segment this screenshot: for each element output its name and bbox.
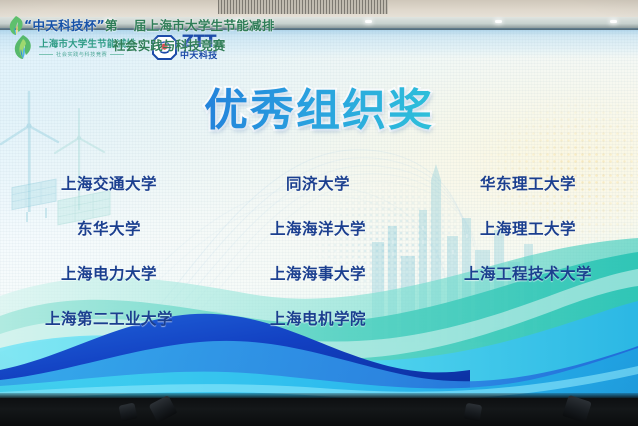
- ztt-logo-cn: 中天科技: [180, 52, 218, 61]
- university-name: 上海理工大学: [418, 205, 638, 250]
- university-name: 上海交通大学: [0, 160, 218, 205]
- ztt-logo: ZTT 中天科技: [152, 34, 218, 61]
- eco-logo-title: 上海市大学生节能减排: [39, 36, 136, 50]
- ztt-logo-en: ZTT: [182, 34, 216, 51]
- ceiling-downlight: [610, 20, 617, 23]
- university-name: 同济大学: [218, 160, 418, 205]
- ceiling-downlight: [235, 20, 242, 23]
- award-title: 优秀组织奖: [0, 74, 638, 138]
- stage-light: [119, 403, 138, 422]
- university-name: 上海第二工业大学: [0, 295, 218, 340]
- stage-floor: [0, 398, 638, 426]
- university-name: 东华大学: [0, 205, 218, 250]
- eco-logo-subtitle: 社会实践与科技竞赛: [39, 51, 136, 58]
- university-name: 上海电力大学: [0, 250, 218, 295]
- ceiling-downlight: [495, 20, 502, 23]
- stage-light: [464, 403, 483, 422]
- leaf-flame-logo-icon: [12, 34, 34, 60]
- ceiling-air-vent: [218, 0, 388, 14]
- university-name: 上海电机学院: [218, 295, 418, 340]
- university-list: 上海交通大学 同济大学 华东理工大学 东华大学 上海海洋大学 上海理工大学 上海…: [0, 160, 638, 340]
- rule-left: [39, 54, 53, 55]
- ceiling-downlight: [105, 20, 112, 23]
- eco-contest-logo: 上海市大学生节能减排 社会实践与科技竞赛: [12, 34, 136, 60]
- ztt-diamond-emblem-icon: [152, 35, 177, 60]
- university-name: 上海工程技术大学: [418, 250, 638, 295]
- eco-logo-subtitle-text: 社会实践与科技竞赛: [56, 51, 107, 58]
- presentation-photo: 上海市大学生节能减排 社会实践与科技竞赛 ZTT 中天科技 优秀组织奖: [0, 0, 638, 426]
- university-name-empty: [418, 295, 638, 340]
- university-name: 上海海事大学: [218, 250, 418, 295]
- ceiling-downlight: [365, 20, 372, 23]
- university-name: 华东理工大学: [418, 160, 638, 205]
- university-name: 上海海洋大学: [218, 205, 418, 250]
- rule-right: [110, 54, 124, 55]
- banner-strip-shade: [0, 28, 638, 36]
